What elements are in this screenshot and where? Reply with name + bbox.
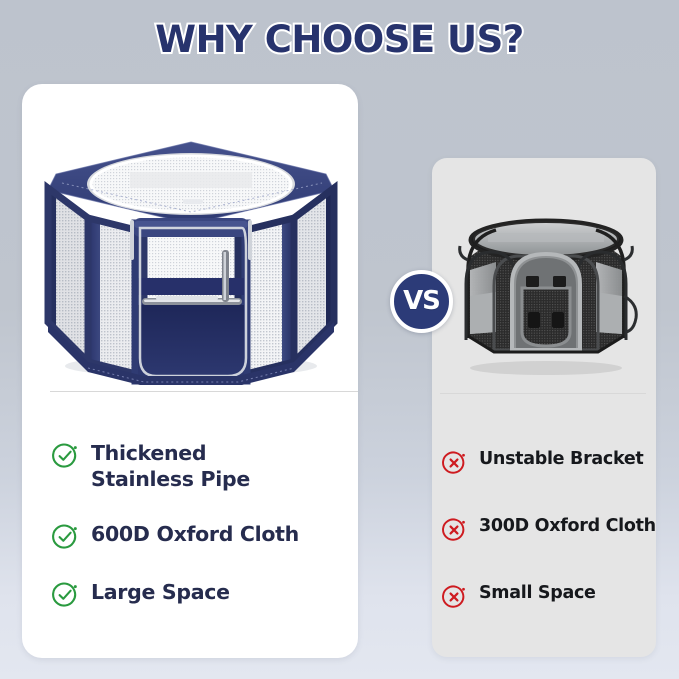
list-item: 300D Oxford Cloth [442, 515, 662, 542]
divider-left [50, 391, 358, 392]
other-feature-list: Unstable Bracket 300D Oxford Cloth S [442, 448, 662, 649]
our-feature-list: Thickened Stainless Pipe 600D Oxford Clo… [52, 440, 342, 637]
list-item: 600D Oxford Cloth [52, 521, 342, 550]
cross-circle-icon [442, 451, 466, 475]
list-item-label: Large Space [91, 579, 230, 605]
check-circle-icon [52, 443, 78, 469]
list-item-label: 600D Oxford Cloth [91, 521, 299, 547]
divider-right [440, 393, 646, 394]
check-circle-icon [52, 524, 78, 550]
other-product-image [448, 200, 644, 380]
infographic-page: WHY CHOOSE US? [0, 0, 679, 679]
our-product-image [26, 100, 356, 385]
vs-badge: VS [390, 270, 453, 333]
list-item-label: Thickened Stainless Pipe [91, 440, 250, 492]
list-item: Small Space [442, 582, 662, 609]
list-item-label: 300D Oxford Cloth [479, 515, 656, 537]
cross-circle-icon [442, 518, 466, 542]
vs-label: VS [403, 288, 440, 314]
list-item: Unstable Bracket [442, 448, 662, 475]
check-circle-icon [52, 582, 78, 608]
list-item: Thickened Stainless Pipe [52, 440, 342, 492]
page-title: WHY CHOOSE US? [0, 18, 679, 61]
list-item: Large Space [52, 579, 342, 608]
list-item-label: Small Space [479, 582, 596, 604]
list-item-label: Unstable Bracket [479, 448, 644, 470]
cross-circle-icon [442, 585, 466, 609]
